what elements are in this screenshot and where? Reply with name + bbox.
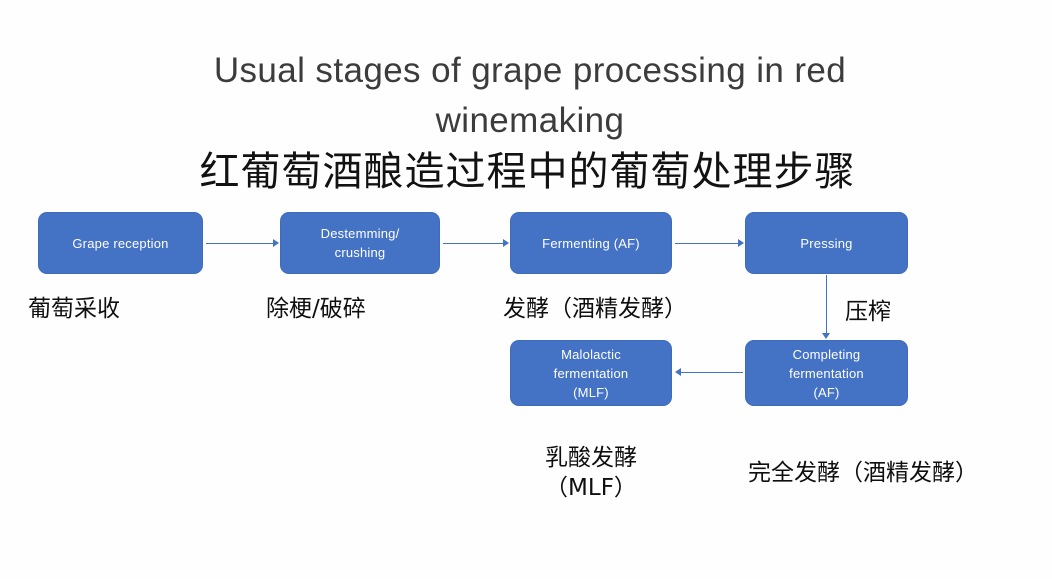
arrowhead-reception-to-destemming — [273, 239, 279, 247]
caption-destemming-crushing: 除梗/破碎 — [266, 294, 366, 324]
node-completing-fermentation[interactable]: Completing fermentation (AF) — [745, 340, 908, 406]
node-malolactic-fermentation[interactable]: Malolactic fermentation (MLF) — [510, 340, 672, 406]
connector-reception-to-destemming — [206, 243, 274, 244]
arrowhead-completing-to-mlf — [675, 368, 681, 376]
node-fermenting-af[interactable]: Fermenting (AF) — [510, 212, 672, 274]
connector-destemming-to-fermenting — [443, 243, 504, 244]
node-grape-reception[interactable]: Grape reception — [38, 212, 203, 274]
arrowhead-pressing-to-completing — [822, 333, 830, 339]
caption-completing-fermentation: 完全发酵（酒精发酵） — [748, 458, 978, 488]
caption-malolactic-fermentation: 乳酸发酵 （MLF） — [521, 443, 661, 503]
page-title-chinese: 红葡萄酒酿造过程中的葡萄处理步骤 — [120, 148, 935, 196]
arrowhead-fermenting-to-pressing — [738, 239, 744, 247]
slide-canvas: Usual stages of grape processing in red … — [0, 0, 1052, 579]
connector-fermenting-to-pressing — [675, 243, 739, 244]
connector-pressing-to-completing — [826, 275, 827, 334]
caption-grape-reception: 葡萄采收 — [28, 294, 120, 324]
connector-completing-to-mlf — [681, 372, 743, 373]
node-pressing[interactable]: Pressing — [745, 212, 908, 274]
node-destemming-crushing[interactable]: Destemming/ crushing — [280, 212, 440, 274]
caption-fermenting-af: 发酵（酒精发酵） — [503, 294, 687, 324]
caption-pressing: 压榨 — [845, 297, 891, 327]
page-title-english: Usual stages of grape processing in red … — [150, 46, 910, 146]
arrowhead-destemming-to-fermenting — [503, 239, 509, 247]
